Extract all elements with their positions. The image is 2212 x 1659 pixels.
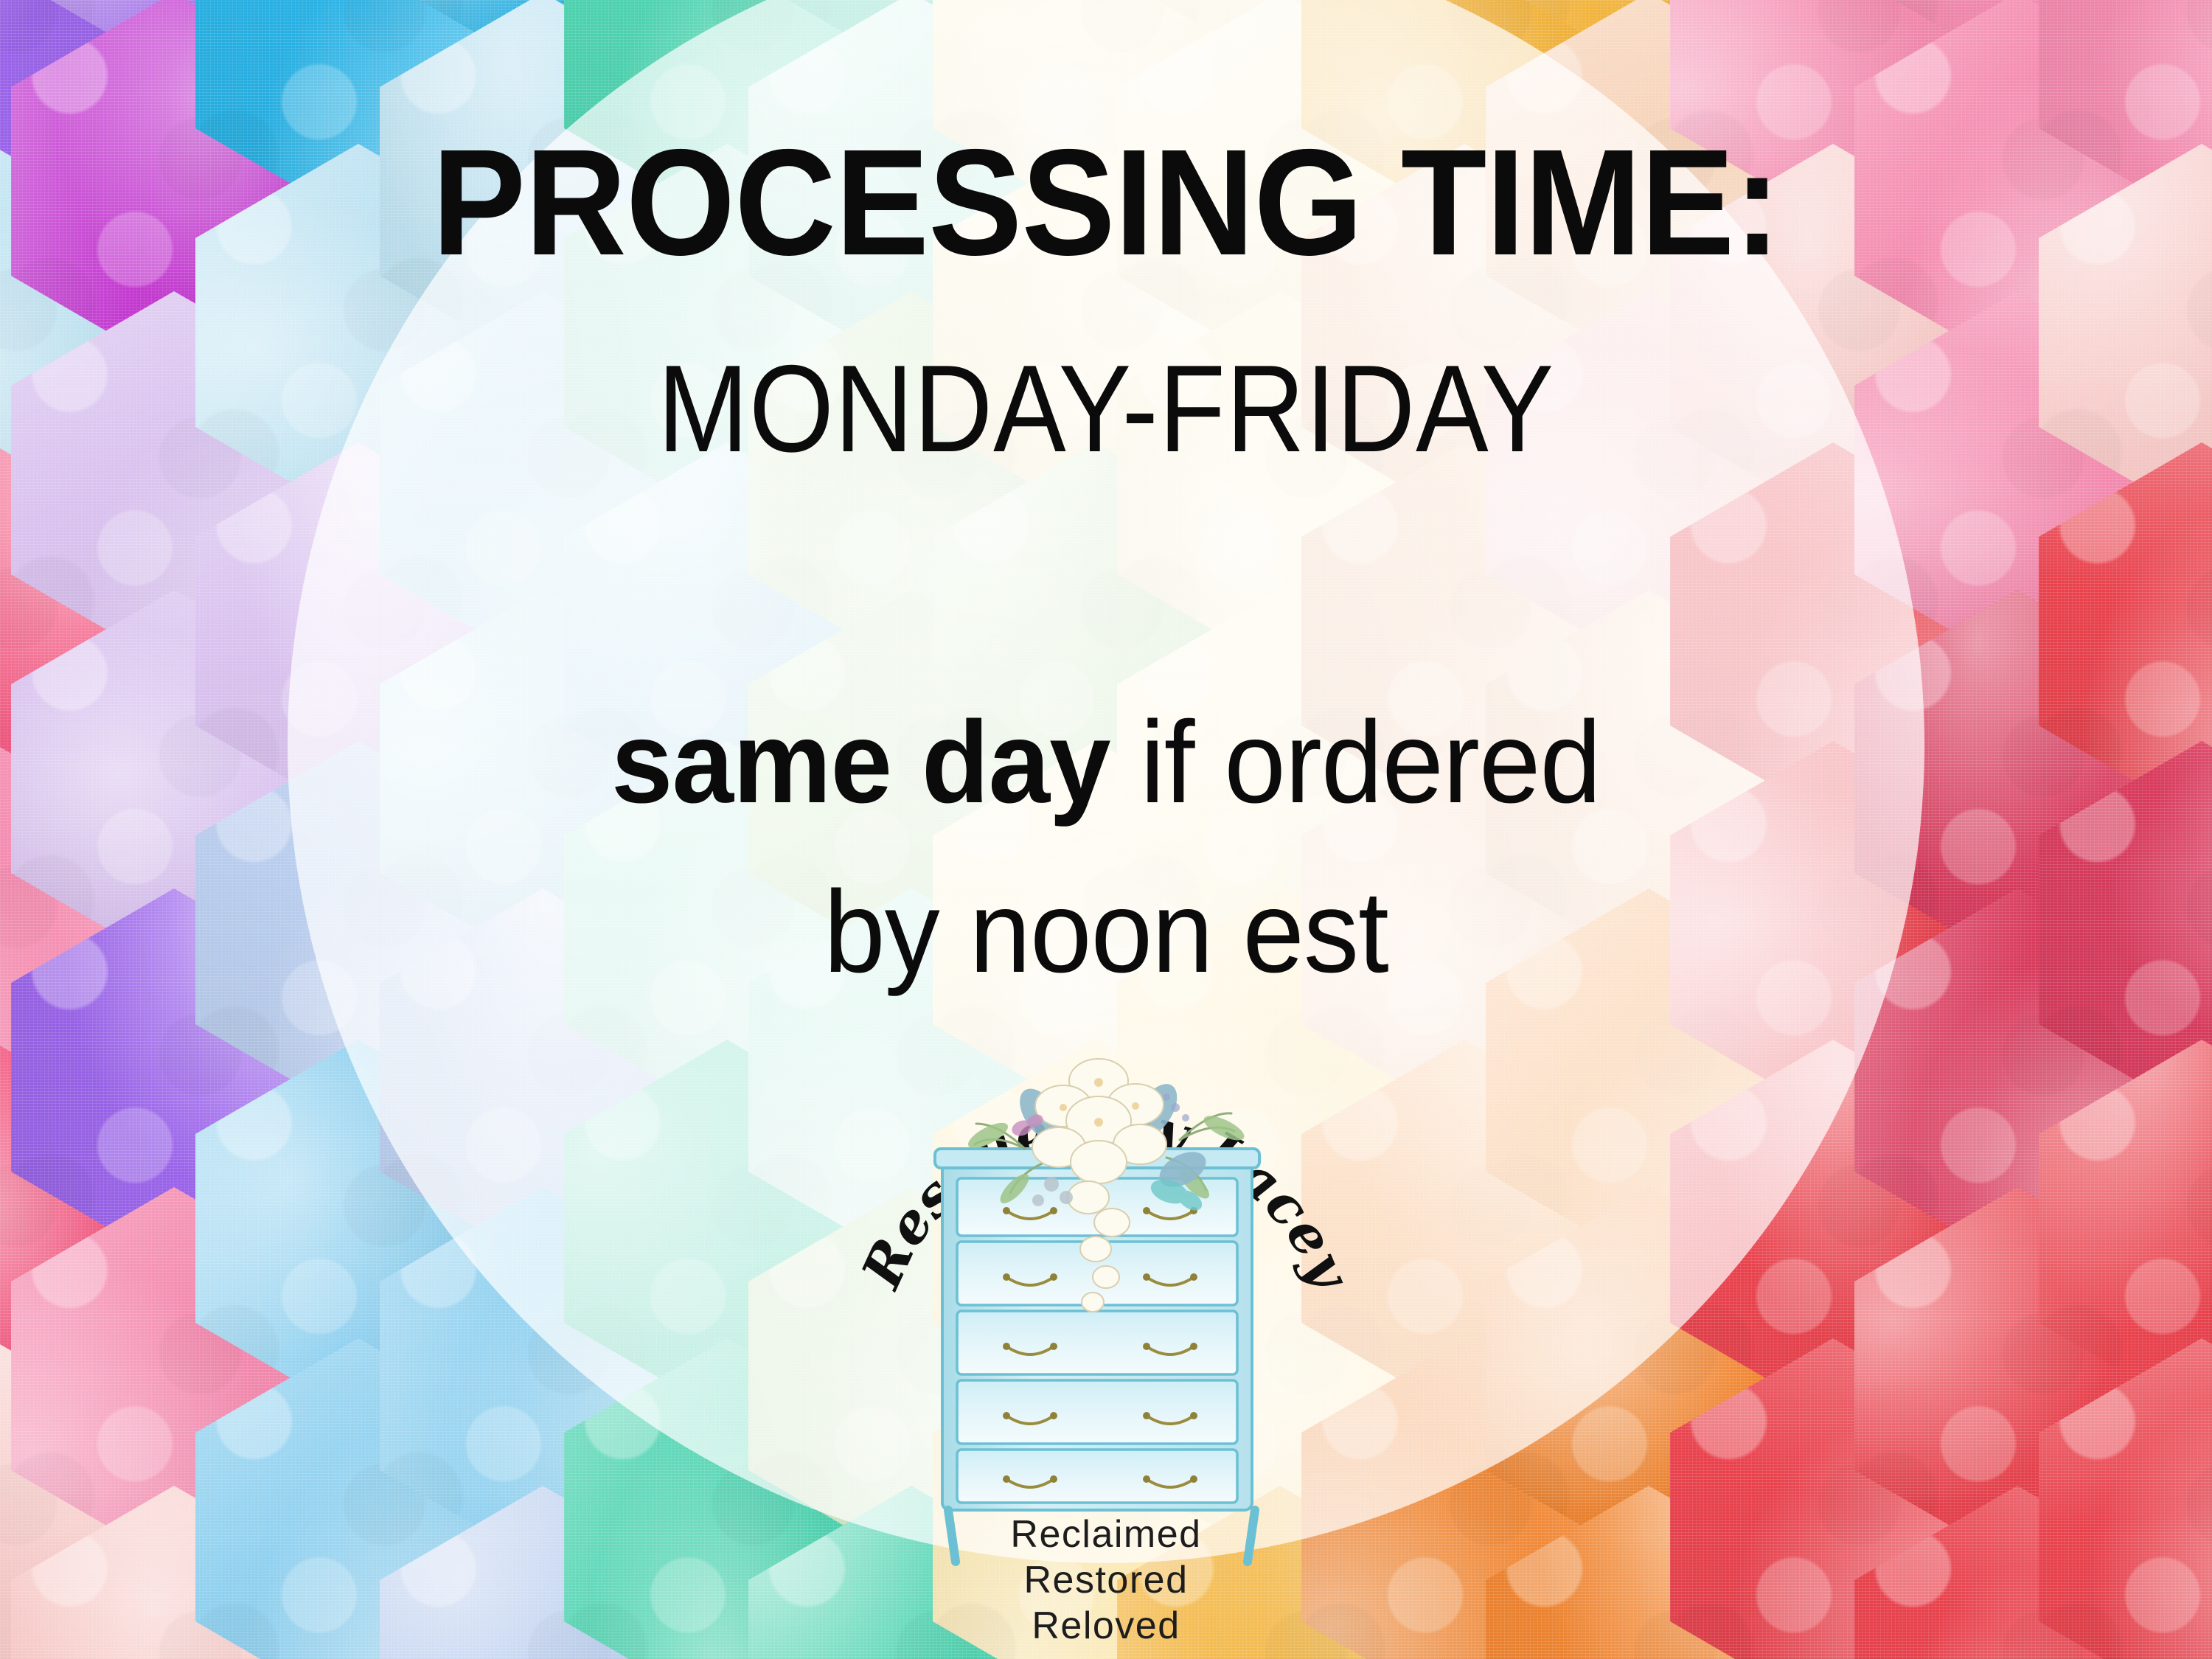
tagline-line-2: Restored [1024, 1559, 1189, 1601]
headline-days: MONDAY-FRIDAY [133, 347, 2079, 470]
headline-processing-time: PROCESSING TIME: [77, 127, 2135, 278]
brand-logo: Rescued by Lacey [877, 1018, 1335, 1630]
headline-cutoff-time: by noon est [55, 874, 2157, 990]
headline-same-day-line: same day if ordered [55, 704, 2157, 821]
tagline-line-1: Reclaimed [1010, 1513, 1201, 1556]
same-day-emphasis: same day [611, 698, 1110, 827]
if-ordered-text: if ordered [1110, 698, 1601, 827]
tagline-line-3: Reloved [1032, 1604, 1180, 1647]
poster-canvas: PROCESSING TIME: MONDAY-FRIDAY same day … [0, 0, 2212, 1659]
